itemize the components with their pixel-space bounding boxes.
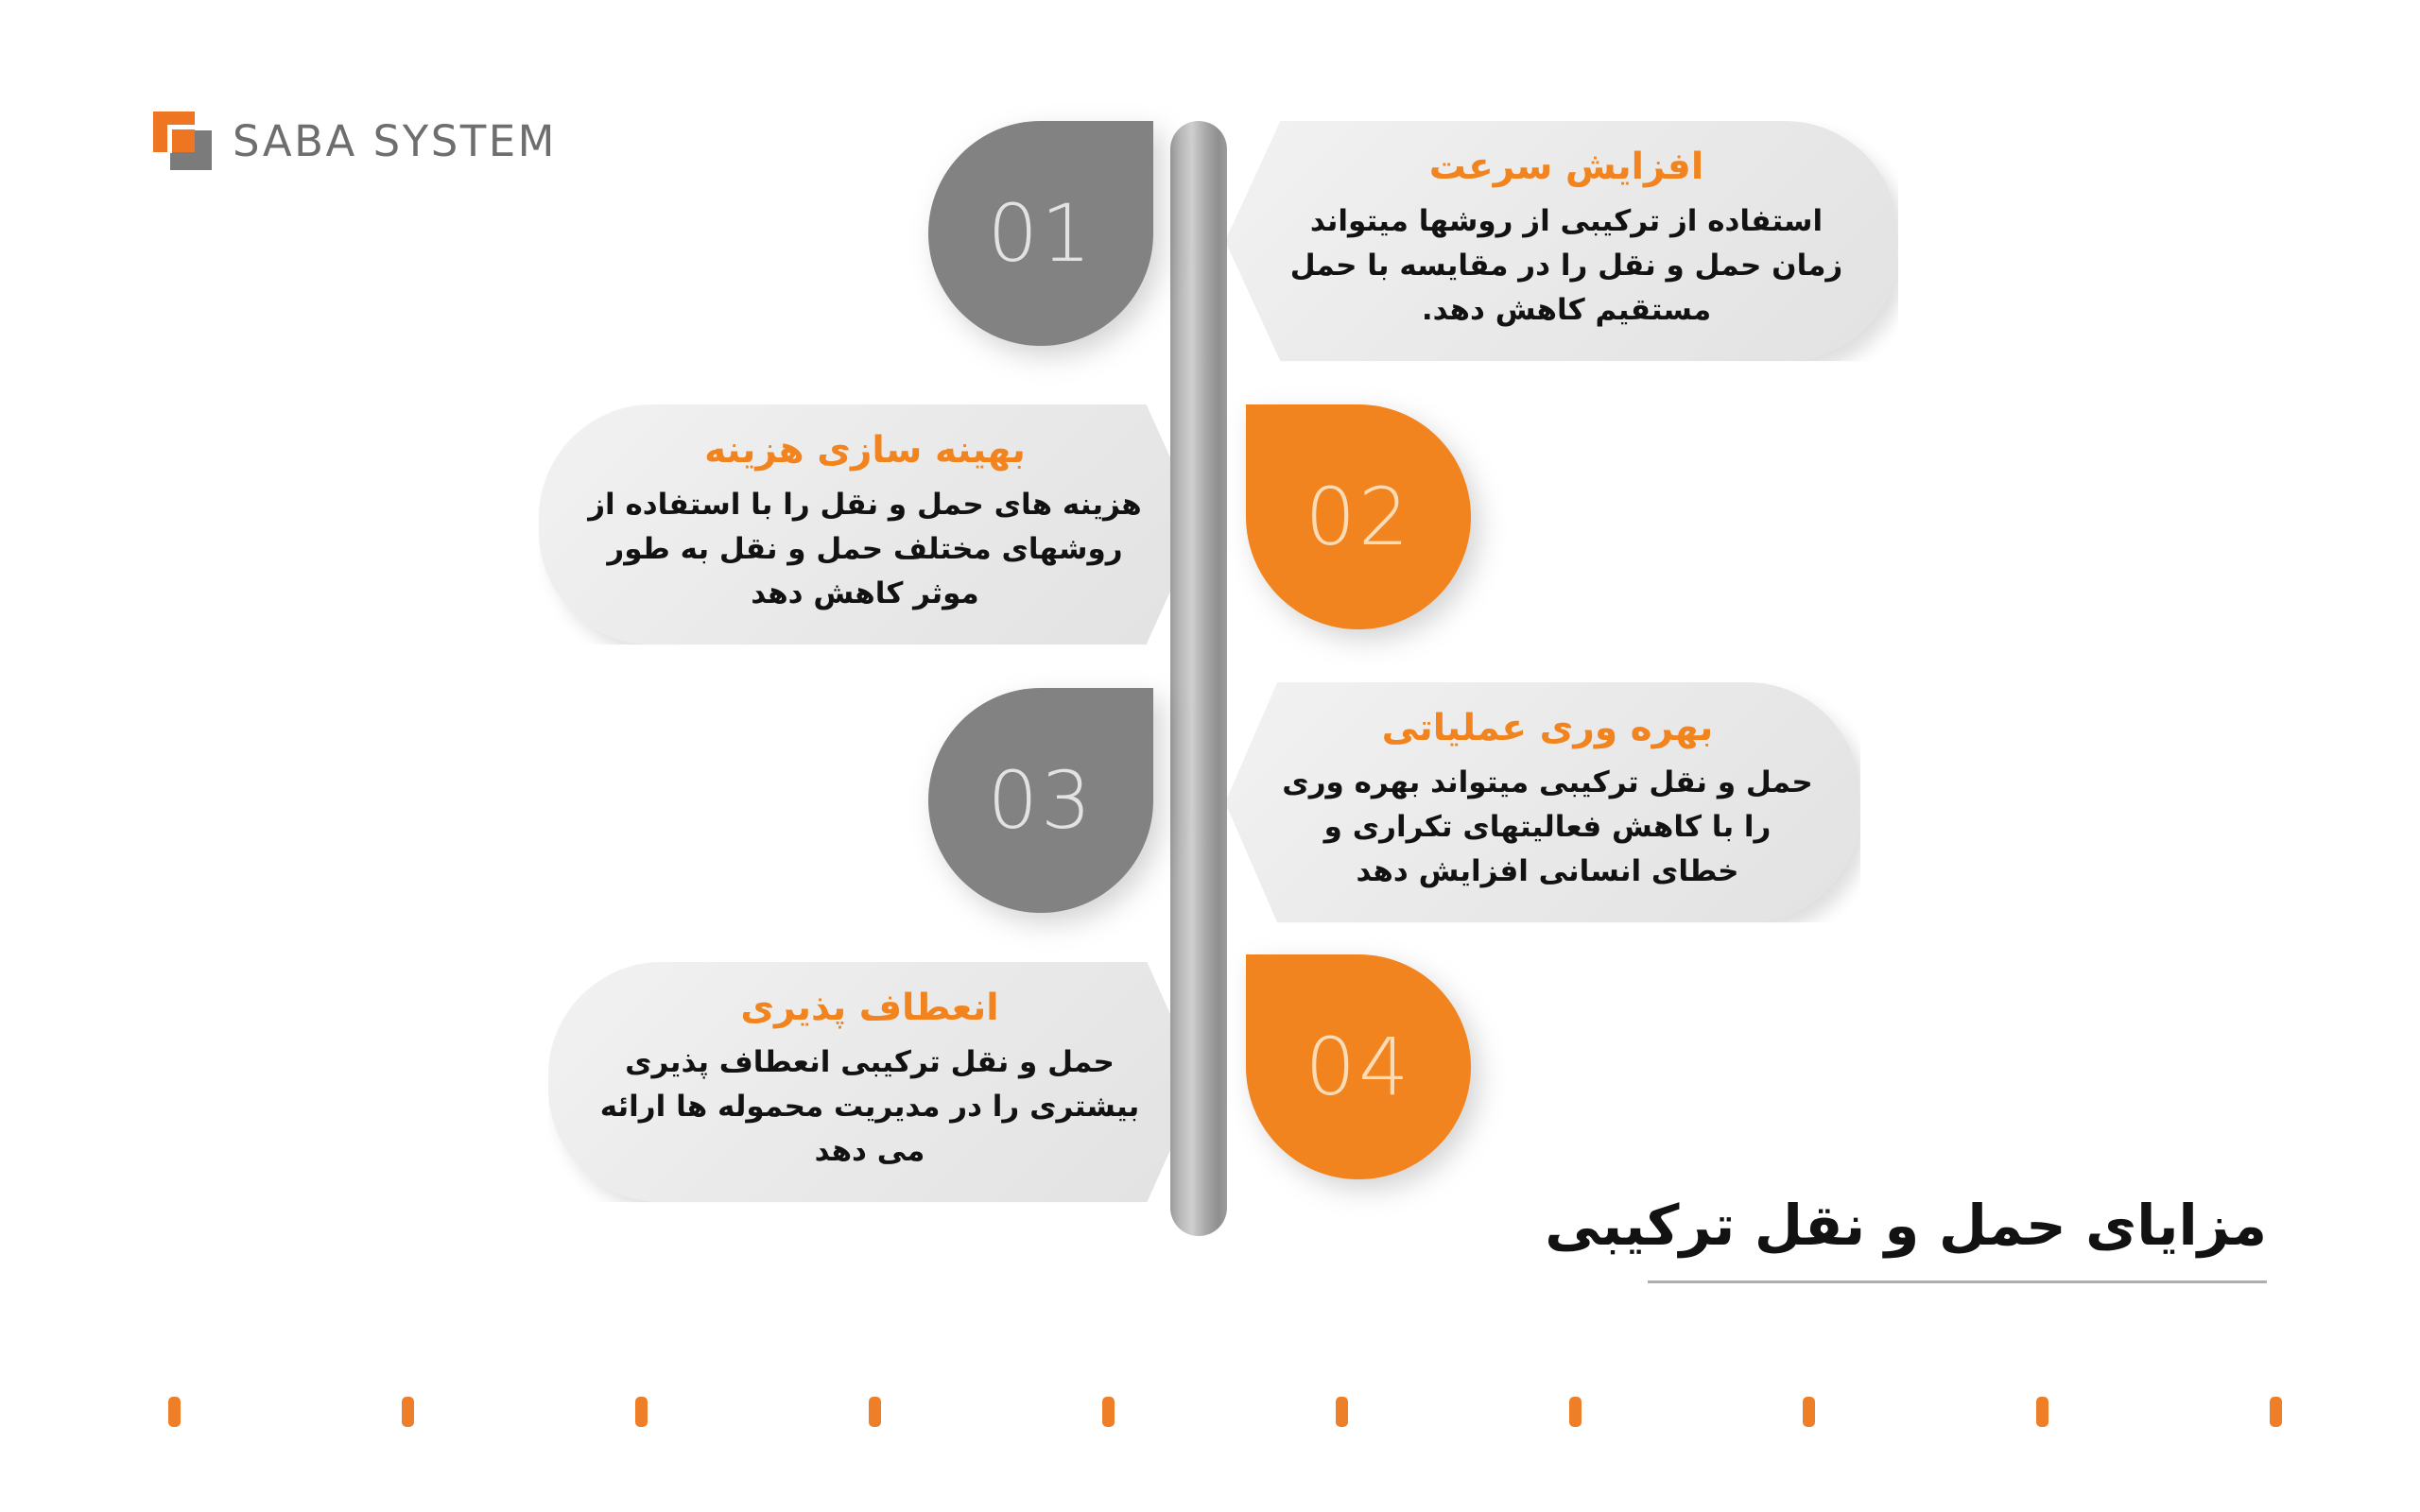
step-bubble-03[interactable]: 03 xyxy=(928,688,1153,913)
step-title-03: بهره وری عملیاتی xyxy=(1278,707,1817,751)
step-card-02[interactable]: بهینه سازی هزینه هزینه های حمل و نقل را … xyxy=(539,404,1201,644)
step-card-04[interactable]: انعطاف پذیری حمل و نقل ترکیبی انعطاف پذی… xyxy=(548,962,1201,1202)
decor-dot xyxy=(1102,1397,1115,1427)
saba-logo-icon xyxy=(153,112,212,170)
step-bubble-02[interactable]: 02 xyxy=(1246,404,1471,629)
step-body-02: هزینه های حمل و نقل را با استفاده از روش… xyxy=(582,483,1148,616)
brand-name: SABA SYSTEM xyxy=(233,116,557,166)
step-body-01: استفاده از ترکیبی از روشها میتواند زمان … xyxy=(1278,199,1855,333)
decor-dot xyxy=(1569,1397,1582,1427)
step-number-01: 01 xyxy=(988,187,1095,280)
step-bubble-01[interactable]: 01 xyxy=(928,121,1153,346)
decor-dot xyxy=(2270,1397,2282,1427)
step-title-04: انعطاف پذیری xyxy=(592,987,1148,1031)
step-title-01: افزایش سرعت xyxy=(1278,146,1855,190)
decor-dot xyxy=(402,1397,414,1427)
step-bubble-04[interactable]: 04 xyxy=(1246,954,1471,1179)
decor-dot xyxy=(2036,1397,2048,1427)
infographic-slide: SABA SYSTEM 01 افزایش سرعت استفاده از تر… xyxy=(0,0,2420,1512)
step-number-03: 03 xyxy=(988,754,1095,847)
logo-notch-icon xyxy=(167,125,196,153)
step-body-03: حمل و نقل ترکیبی میتواند بهره وری را با … xyxy=(1278,761,1817,894)
headline-rule xyxy=(1648,1280,2267,1283)
brand-logo: SABA SYSTEM xyxy=(153,112,557,170)
decor-dot xyxy=(635,1397,648,1427)
bottom-dot-strip xyxy=(0,1397,2420,1435)
step-title-02: بهینه سازی هزینه xyxy=(582,429,1148,473)
step-body-04: حمل و نقل ترکیبی انعطاف پذیری بیشتری را … xyxy=(592,1040,1148,1174)
decor-dot xyxy=(1803,1397,1815,1427)
decor-dot xyxy=(1336,1397,1348,1427)
step-number-04: 04 xyxy=(1305,1021,1412,1113)
step-card-01[interactable]: افزایش سرعت استفاده از ترکیبی از روشها م… xyxy=(1225,121,1898,361)
decor-dot xyxy=(869,1397,881,1427)
step-number-02: 02 xyxy=(1305,471,1412,563)
timeline-spine xyxy=(1170,121,1227,1236)
headline-text: مزایای حمل و نقل ترکیبی xyxy=(1545,1193,2267,1260)
decor-dot xyxy=(168,1397,181,1427)
slide-headline: مزایای حمل و نقل ترکیبی xyxy=(1545,1193,2267,1283)
step-card-03[interactable]: بهره وری عملیاتی حمل و نقل ترکیبی میتوان… xyxy=(1225,682,1860,922)
